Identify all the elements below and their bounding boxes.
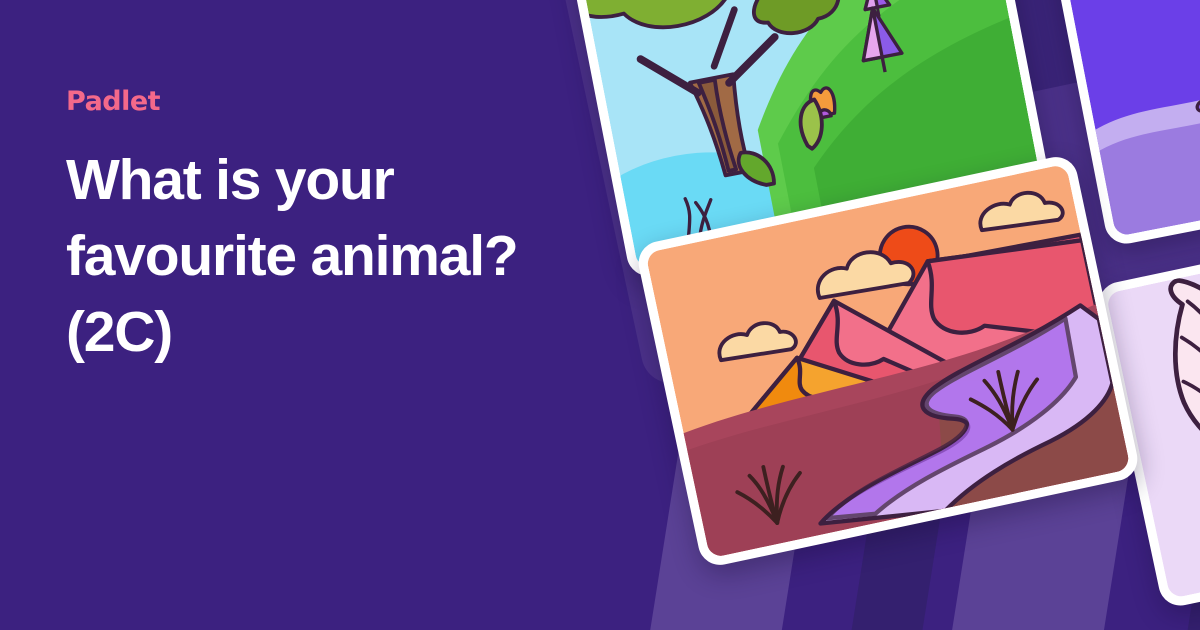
page-canvas: Padlet What is your favourite animal? (2… xyxy=(0,0,1200,630)
hero-text-column: Padlet What is your favourite animal? (2… xyxy=(66,88,626,370)
padlet-logo[interactable]: Padlet xyxy=(66,88,626,115)
page-title: What is your favourite animal? (2C) xyxy=(66,143,626,370)
